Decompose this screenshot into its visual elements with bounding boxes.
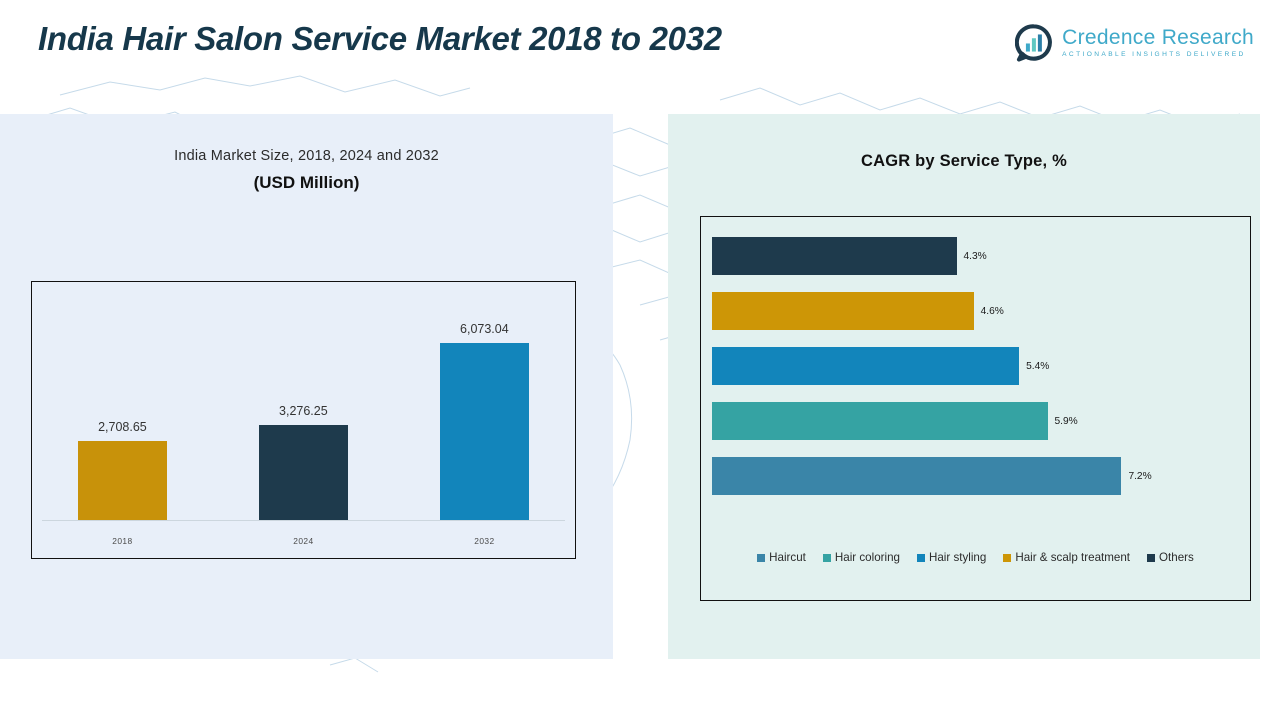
- vertical-bar-column: 6,073.04: [394, 322, 575, 520]
- horizontal-bar-row: 5.9%: [712, 402, 1240, 440]
- bar-value-label: 5.4%: [1026, 361, 1049, 372]
- legend-label: Hair coloring: [835, 551, 900, 564]
- horizontal-bar: [712, 402, 1048, 440]
- header: India Hair Salon Service Market 2018 to …: [0, 0, 1280, 92]
- logo-company-name: Credence Research: [1062, 27, 1254, 48]
- legend-color-swatch: [757, 554, 765, 562]
- vertical-bar: [78, 441, 167, 520]
- legend-label: Hair & scalp treatment: [1015, 551, 1130, 564]
- left-chart-heading: India Market Size, 2018, 2024 and 2032 (…: [0, 148, 613, 193]
- bar-value-label: 4.3%: [964, 251, 987, 262]
- horizontal-bar-row: 4.6%: [712, 292, 1240, 330]
- horizontal-bar: [712, 457, 1121, 495]
- legend-color-swatch: [1003, 554, 1011, 562]
- horizontal-bar: [712, 292, 974, 330]
- left-chart-subtitle: India Market Size, 2018, 2024 and 2032: [0, 148, 613, 164]
- right-chart-title: CAGR by Service Type, %: [668, 152, 1260, 171]
- legend-item: Hair coloring: [823, 551, 900, 564]
- x-axis-tick-label: 2024: [213, 536, 394, 546]
- horizontal-bar: [712, 237, 957, 275]
- legend-color-swatch: [823, 554, 831, 562]
- bar-value-label: 7.2%: [1128, 471, 1151, 482]
- right-chart-heading: CAGR by Service Type, %: [668, 152, 1260, 171]
- vertical-bar-plot-area: 2,708.653,276.256,073.04: [32, 282, 575, 558]
- bar-chart-bubble-icon: [1015, 24, 1053, 62]
- legend-item: Hair styling: [917, 551, 986, 564]
- legend-label: Hair styling: [929, 551, 986, 564]
- left-chart-unit: (USD Million): [0, 173, 613, 193]
- vertical-bar: [259, 425, 348, 520]
- x-axis-tick-label: 2018: [32, 536, 213, 546]
- x-axis-tick-label: 2032: [394, 536, 575, 546]
- legend-label: Others: [1159, 551, 1194, 564]
- market-size-bar-chart: 2,708.653,276.256,073.04 201820242032: [31, 281, 576, 559]
- logo-wordmark: Credence Research Actionable Insights De…: [1062, 27, 1254, 59]
- vertical-bar: [440, 343, 529, 520]
- legend-item: Others: [1147, 551, 1194, 564]
- page-title: India Hair Salon Service Market 2018 to …: [38, 20, 722, 58]
- horizontal-bar-row: 5.4%: [712, 347, 1240, 385]
- horizontal-bar-row: 4.3%: [712, 237, 1240, 275]
- infographic-canvas: India Hair Salon Service Market 2018 to …: [0, 0, 1280, 720]
- horizontal-bar-row: 7.2%: [712, 457, 1240, 495]
- vertical-bar-column: 3,276.25: [213, 404, 394, 520]
- legend-label: Haircut: [769, 551, 806, 564]
- legend-item: Haircut: [757, 551, 806, 564]
- legend-color-swatch: [917, 554, 925, 562]
- legend-item: Hair & scalp treatment: [1003, 551, 1130, 564]
- cagr-bar-chart: 4.3%4.6%5.4%5.9%7.2% HaircutHair colorin…: [700, 216, 1251, 601]
- bar-value-label: 3,276.25: [279, 404, 328, 418]
- horizontal-bar-plot-area: 4.3%4.6%5.4%5.9%7.2%: [712, 237, 1240, 512]
- logo-tagline: Actionable Insights Delivered: [1062, 52, 1254, 59]
- bar-value-label: 4.6%: [981, 306, 1004, 317]
- horizontal-bar: [712, 347, 1019, 385]
- brand-logo: Credence Research Actionable Insights De…: [1015, 24, 1254, 62]
- bar-value-label: 6,073.04: [460, 322, 509, 336]
- cagr-legend: HaircutHair coloringHair stylingHair & s…: [701, 551, 1250, 564]
- bar-value-label: 2,708.65: [98, 420, 147, 434]
- legend-color-swatch: [1147, 554, 1155, 562]
- vertical-bar-column: 2,708.65: [32, 420, 213, 520]
- x-axis-line: [42, 520, 565, 521]
- bar-value-label: 5.9%: [1055, 416, 1078, 427]
